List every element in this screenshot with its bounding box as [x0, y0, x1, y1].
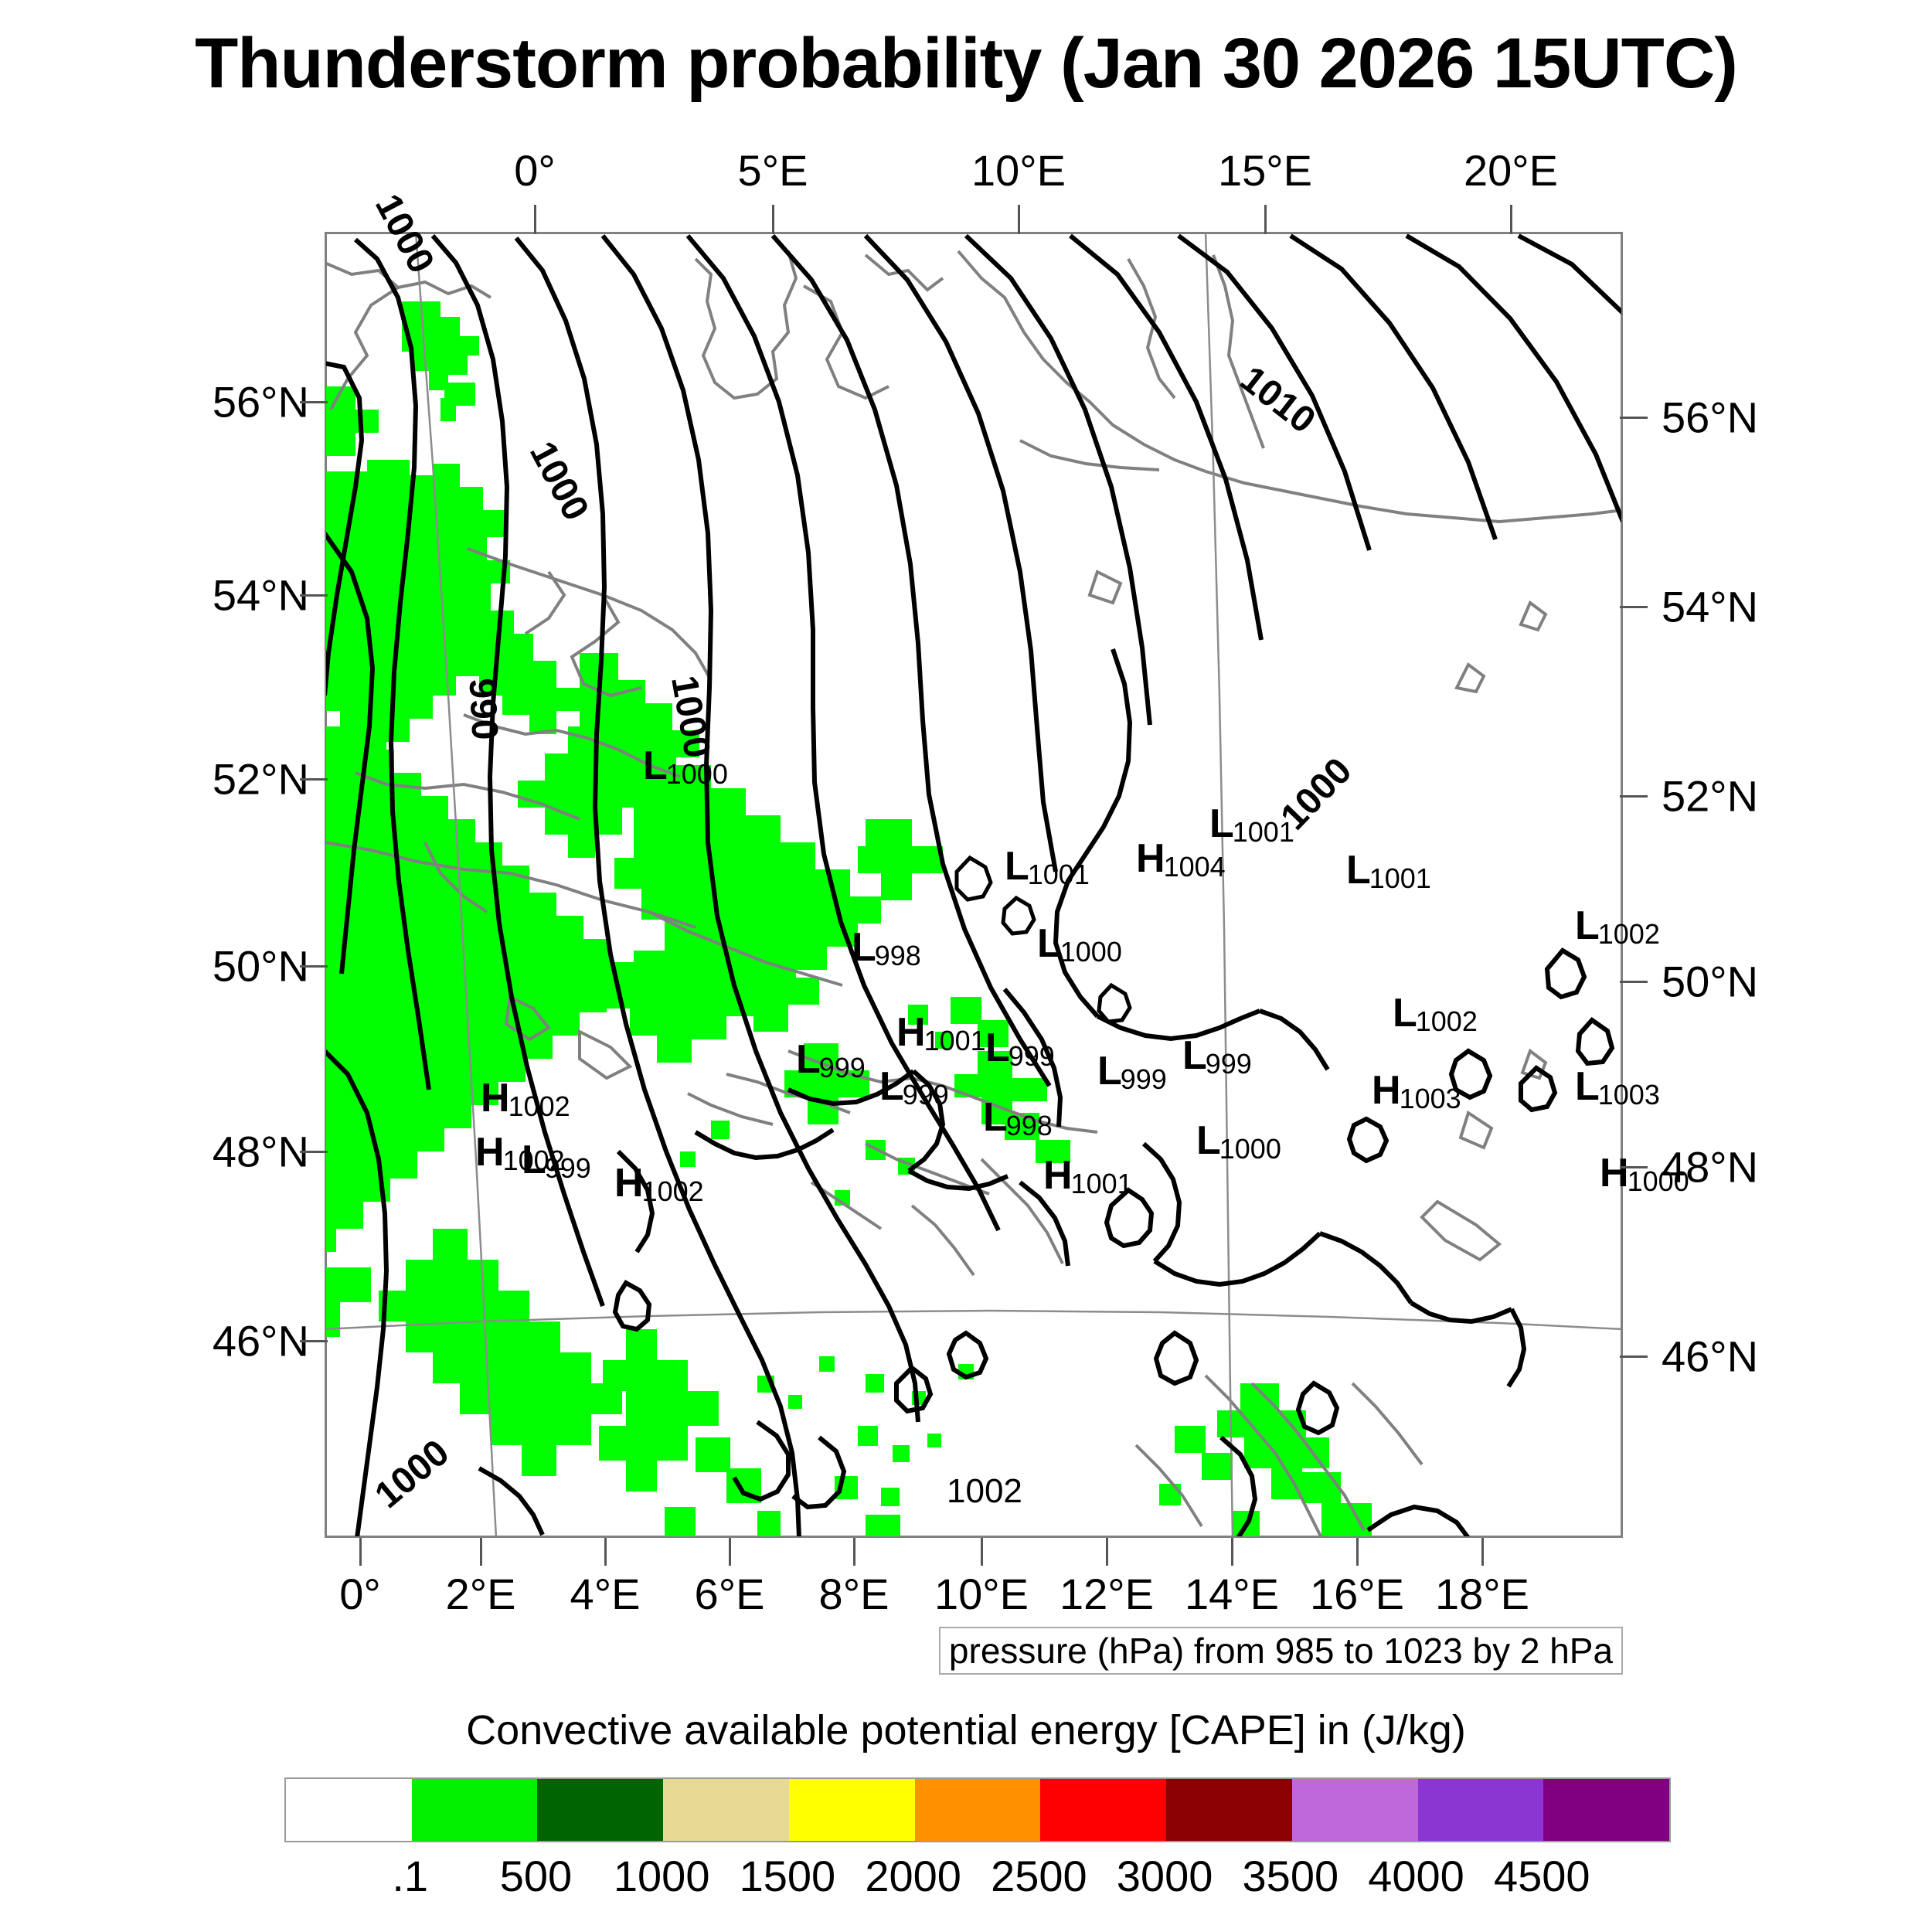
pressure-center-L-1003: L1003 [1575, 1066, 1660, 1109]
bottom-tick-1: 2°E [446, 1569, 516, 1619]
pressure-center-L-1002-a: L1002 [1575, 906, 1660, 948]
pressure-center-L-1001-b: L1001 [1005, 846, 1090, 889]
right-tick-mark [1620, 1355, 1648, 1358]
colorbar-label-7: 3500 [1243, 1851, 1339, 1901]
colorbar-segment-7[interactable] [1166, 1779, 1292, 1841]
pressure-center-kind: L [983, 1095, 1008, 1140]
pressure-center-kind: H [1043, 1153, 1073, 1198]
colorbar-segment-1[interactable] [412, 1779, 538, 1841]
pressure-center-kind: H [1136, 836, 1165, 881]
pressure-caption-box: pressure (hPa) from 985 to 1023 by 2 hPa [939, 1627, 1623, 1675]
pressure-center-kind: H [1372, 1068, 1401, 1113]
pressure-center-kind: L [1575, 903, 1600, 948]
pressure-center-L-999-e: L999 [879, 1066, 949, 1109]
bottom-tick-6: 12°E [1060, 1569, 1154, 1619]
left-tick-0: 56°N [178, 377, 309, 427]
top-tick-mark [1264, 205, 1267, 234]
left-tick-mark [300, 1151, 328, 1153]
page-title: Thunderstorm probability (Jan 30 2026 15… [0, 23, 1932, 104]
bottom-tick-mark [981, 1538, 983, 1566]
pressure-center-value: 999 [1121, 1063, 1167, 1095]
left-tick-2: 52°N [178, 754, 309, 804]
colorbar-segment-4[interactable] [789, 1779, 915, 1841]
bottom-tick-mark [1356, 1538, 1359, 1566]
left-tick-mark [300, 1340, 328, 1342]
right-tick-1: 54°N [1662, 582, 1758, 632]
pressure-center-L-1000-a: L1000 [643, 746, 728, 788]
pressure-center-kind: H [614, 1161, 644, 1206]
top-tick-1: 5°E [738, 145, 808, 196]
pressure-center-H-1004: H1004 [1136, 838, 1226, 881]
pressure-center-H-1001-b: H1001 [1043, 1155, 1133, 1198]
pressure-center-kind: L [879, 1064, 904, 1109]
colorbar-label-3: 1500 [740, 1851, 836, 1901]
right-tick-mark [1620, 1166, 1648, 1168]
top-tick-mark [1018, 205, 1020, 234]
left-tick-mark [300, 778, 328, 781]
pressure-center-value: 1000 [666, 758, 728, 790]
bottom-tick-mark [1481, 1538, 1484, 1566]
top-tick-mark [1510, 205, 1512, 234]
top-tick-2: 10°E [971, 145, 1066, 196]
colorbar-segment-9[interactable] [1418, 1779, 1544, 1841]
bottom-tick-mark [480, 1538, 482, 1566]
left-tick-mark [300, 594, 328, 597]
colorbar-label-4: 2000 [865, 1851, 961, 1901]
pressure-center-kind: L [1037, 921, 1062, 966]
bottom-tick-4: 8°E [819, 1569, 889, 1619]
colorbar[interactable] [284, 1777, 1671, 1842]
left-tick-3: 50°N [178, 941, 309, 992]
pressure-center-value: 999 [545, 1152, 591, 1184]
pressure-center-value: 1004 [1164, 851, 1226, 883]
pressure-center-H-1003: H1003 [1372, 1070, 1461, 1113]
pressure-center-value: 1001 [1369, 862, 1431, 894]
pressure-center-L-999-b: L999 [796, 1039, 866, 1082]
bottom-tick-3: 6°E [695, 1569, 765, 1619]
colorbar-segment-10[interactable] [1543, 1779, 1669, 1841]
pressure-center-value: 999 [903, 1079, 949, 1111]
pressure-center-kind: H [475, 1130, 505, 1175]
pressure-center-value: 1002 [642, 1175, 704, 1207]
pressure-center-value: 1001 [1071, 1168, 1133, 1199]
pressure-center-value: 998 [1006, 1110, 1053, 1141]
right-tick-0: 56°N [1662, 393, 1758, 443]
pressure-center-value: 1002 [1598, 918, 1660, 950]
pressure-center-kind: H [1600, 1151, 1629, 1196]
pressure-center-L-998-a: L998 [852, 927, 921, 970]
pressure-center-kind: L [1393, 991, 1417, 1036]
top-tick-4: 20°E [1464, 145, 1558, 196]
pressure-center-kind: H [896, 1010, 926, 1055]
map-plot: 1000 990 1000 1010 1000 1000 1000 1002 L… [325, 232, 1623, 1538]
pressure-center-L-1000-b: L1000 [1037, 923, 1122, 966]
colorbar-segment-2[interactable] [537, 1779, 663, 1841]
pressure-center-H-1002-c: H1002 [614, 1163, 704, 1206]
pressure-center-kind: L [1575, 1064, 1600, 1109]
pressure-center-H-1001-a: H1001 [896, 1012, 986, 1055]
colorbar-label-9: 4500 [1494, 1851, 1590, 1901]
isobar-label-990: 990 [460, 677, 505, 741]
colorbar-segment-5[interactable] [915, 1779, 1041, 1841]
bottom-tick-mark [1231, 1538, 1233, 1566]
colorbar-segment-0[interactable] [286, 1779, 412, 1841]
bottom-tick-mark [1106, 1538, 1108, 1566]
colorbar-caption: Convective available potential energy [C… [0, 1706, 1932, 1754]
bottom-tick-mark [359, 1538, 362, 1566]
pressure-center-kind: L [1005, 844, 1029, 889]
bottom-tick-9: 18°E [1435, 1569, 1529, 1619]
colorbar-label-1: 500 [500, 1851, 572, 1901]
colorbar-label-0: .1 [392, 1851, 428, 1901]
pressure-center-kind: L [985, 1026, 1010, 1070]
pressure-center-L-999-c: L999 [1097, 1051, 1167, 1094]
left-tick-1: 54°N [178, 570, 309, 621]
colorbar-segment-6[interactable] [1040, 1779, 1166, 1841]
left-tick-mark [300, 401, 328, 403]
pressure-center-value: 1002 [1416, 1005, 1478, 1037]
bottom-tick-7: 14°E [1185, 1569, 1279, 1619]
bottom-tick-2: 4°E [570, 1569, 641, 1619]
right-tick-5: 46°N [1662, 1332, 1758, 1382]
colorbar-label-2: 1000 [614, 1851, 710, 1901]
right-tick-mark [1620, 795, 1648, 798]
top-tick-mark [772, 205, 774, 234]
colorbar-label-5: 2500 [991, 1851, 1087, 1901]
pressure-center-value: 999 [1206, 1048, 1252, 1080]
pressure-center-value: 1002 [509, 1090, 570, 1122]
colorbar-label-8: 4000 [1368, 1851, 1464, 1901]
pressure-center-value: 1003 [1400, 1083, 1461, 1114]
left-tick-5: 46°N [178, 1316, 309, 1366]
pressure-center-L-1001-c: L1001 [1346, 850, 1431, 893]
bottom-tick-0: 0° [339, 1569, 381, 1619]
pressure-center-value: 1001 [1233, 816, 1294, 848]
bottom-tick-mark [729, 1538, 731, 1566]
pressure-center-L-999-a: L999 [985, 1028, 1055, 1070]
right-tick-4: 48°N [1662, 1142, 1758, 1192]
pressure-center-L-999-f: L999 [522, 1140, 591, 1182]
top-tick-0: 0° [514, 145, 556, 196]
top-tick-3: 15°E [1218, 145, 1312, 196]
pressure-center-value: 1001 [1028, 859, 1090, 890]
pressure-center-L-998-b: L998 [983, 1097, 1053, 1140]
isobar-label-1002: 1002 [947, 1472, 1022, 1511]
bottom-tick-mark [604, 1538, 607, 1566]
pressure-center-kind: L [1097, 1049, 1122, 1094]
pressure-center-kind: L [1182, 1033, 1207, 1078]
pressure-center-kind: L [1196, 1118, 1221, 1163]
pressure-center-kind: L [522, 1138, 546, 1182]
pressure-center-L-999-d: L999 [1182, 1036, 1252, 1078]
right-tick-mark [1620, 981, 1648, 983]
pressure-center-value: 1001 [924, 1025, 986, 1056]
colorbar-segment-8[interactable] [1292, 1779, 1418, 1841]
pressure-center-value: 1003 [1598, 1079, 1660, 1111]
bottom-tick-8: 16°E [1310, 1569, 1404, 1619]
pressure-center-kind: L [796, 1037, 821, 1082]
right-tick-mark [1620, 606, 1648, 608]
left-tick-mark [300, 965, 328, 968]
top-tick-mark [534, 205, 536, 234]
pressure-center-L-1000-c: L1000 [1196, 1121, 1281, 1163]
pressure-center-kind: H [481, 1076, 510, 1121]
right-tick-mark [1620, 417, 1648, 419]
left-tick-4: 48°N [178, 1127, 309, 1177]
right-tick-2: 52°N [1662, 771, 1758, 821]
pressure-center-value: 998 [875, 940, 921, 971]
pressure-center-L-1002-b: L1002 [1393, 993, 1478, 1036]
pressure-center-value: 999 [1009, 1040, 1055, 1072]
pressure-center-kind: L [643, 743, 668, 788]
pressure-center-value: 999 [819, 1052, 866, 1083]
colorbar-segment-3[interactable] [663, 1779, 789, 1841]
bottom-tick-5: 10°E [934, 1569, 1029, 1619]
pressure-center-value: 1000 [1060, 936, 1122, 968]
pressure-center-H-1002-a: H1002 [481, 1078, 570, 1121]
pressure-center-kind: L [1346, 848, 1371, 893]
colorbar-label-6: 3000 [1117, 1851, 1213, 1901]
pressure-center-value: 1000 [1219, 1133, 1281, 1165]
bottom-tick-mark [853, 1538, 855, 1566]
colorbar-labels: .150010001500200025003000350040004500 [284, 1851, 1668, 1905]
right-tick-3: 50°N [1662, 957, 1758, 1007]
pressure-center-kind: L [852, 925, 876, 970]
